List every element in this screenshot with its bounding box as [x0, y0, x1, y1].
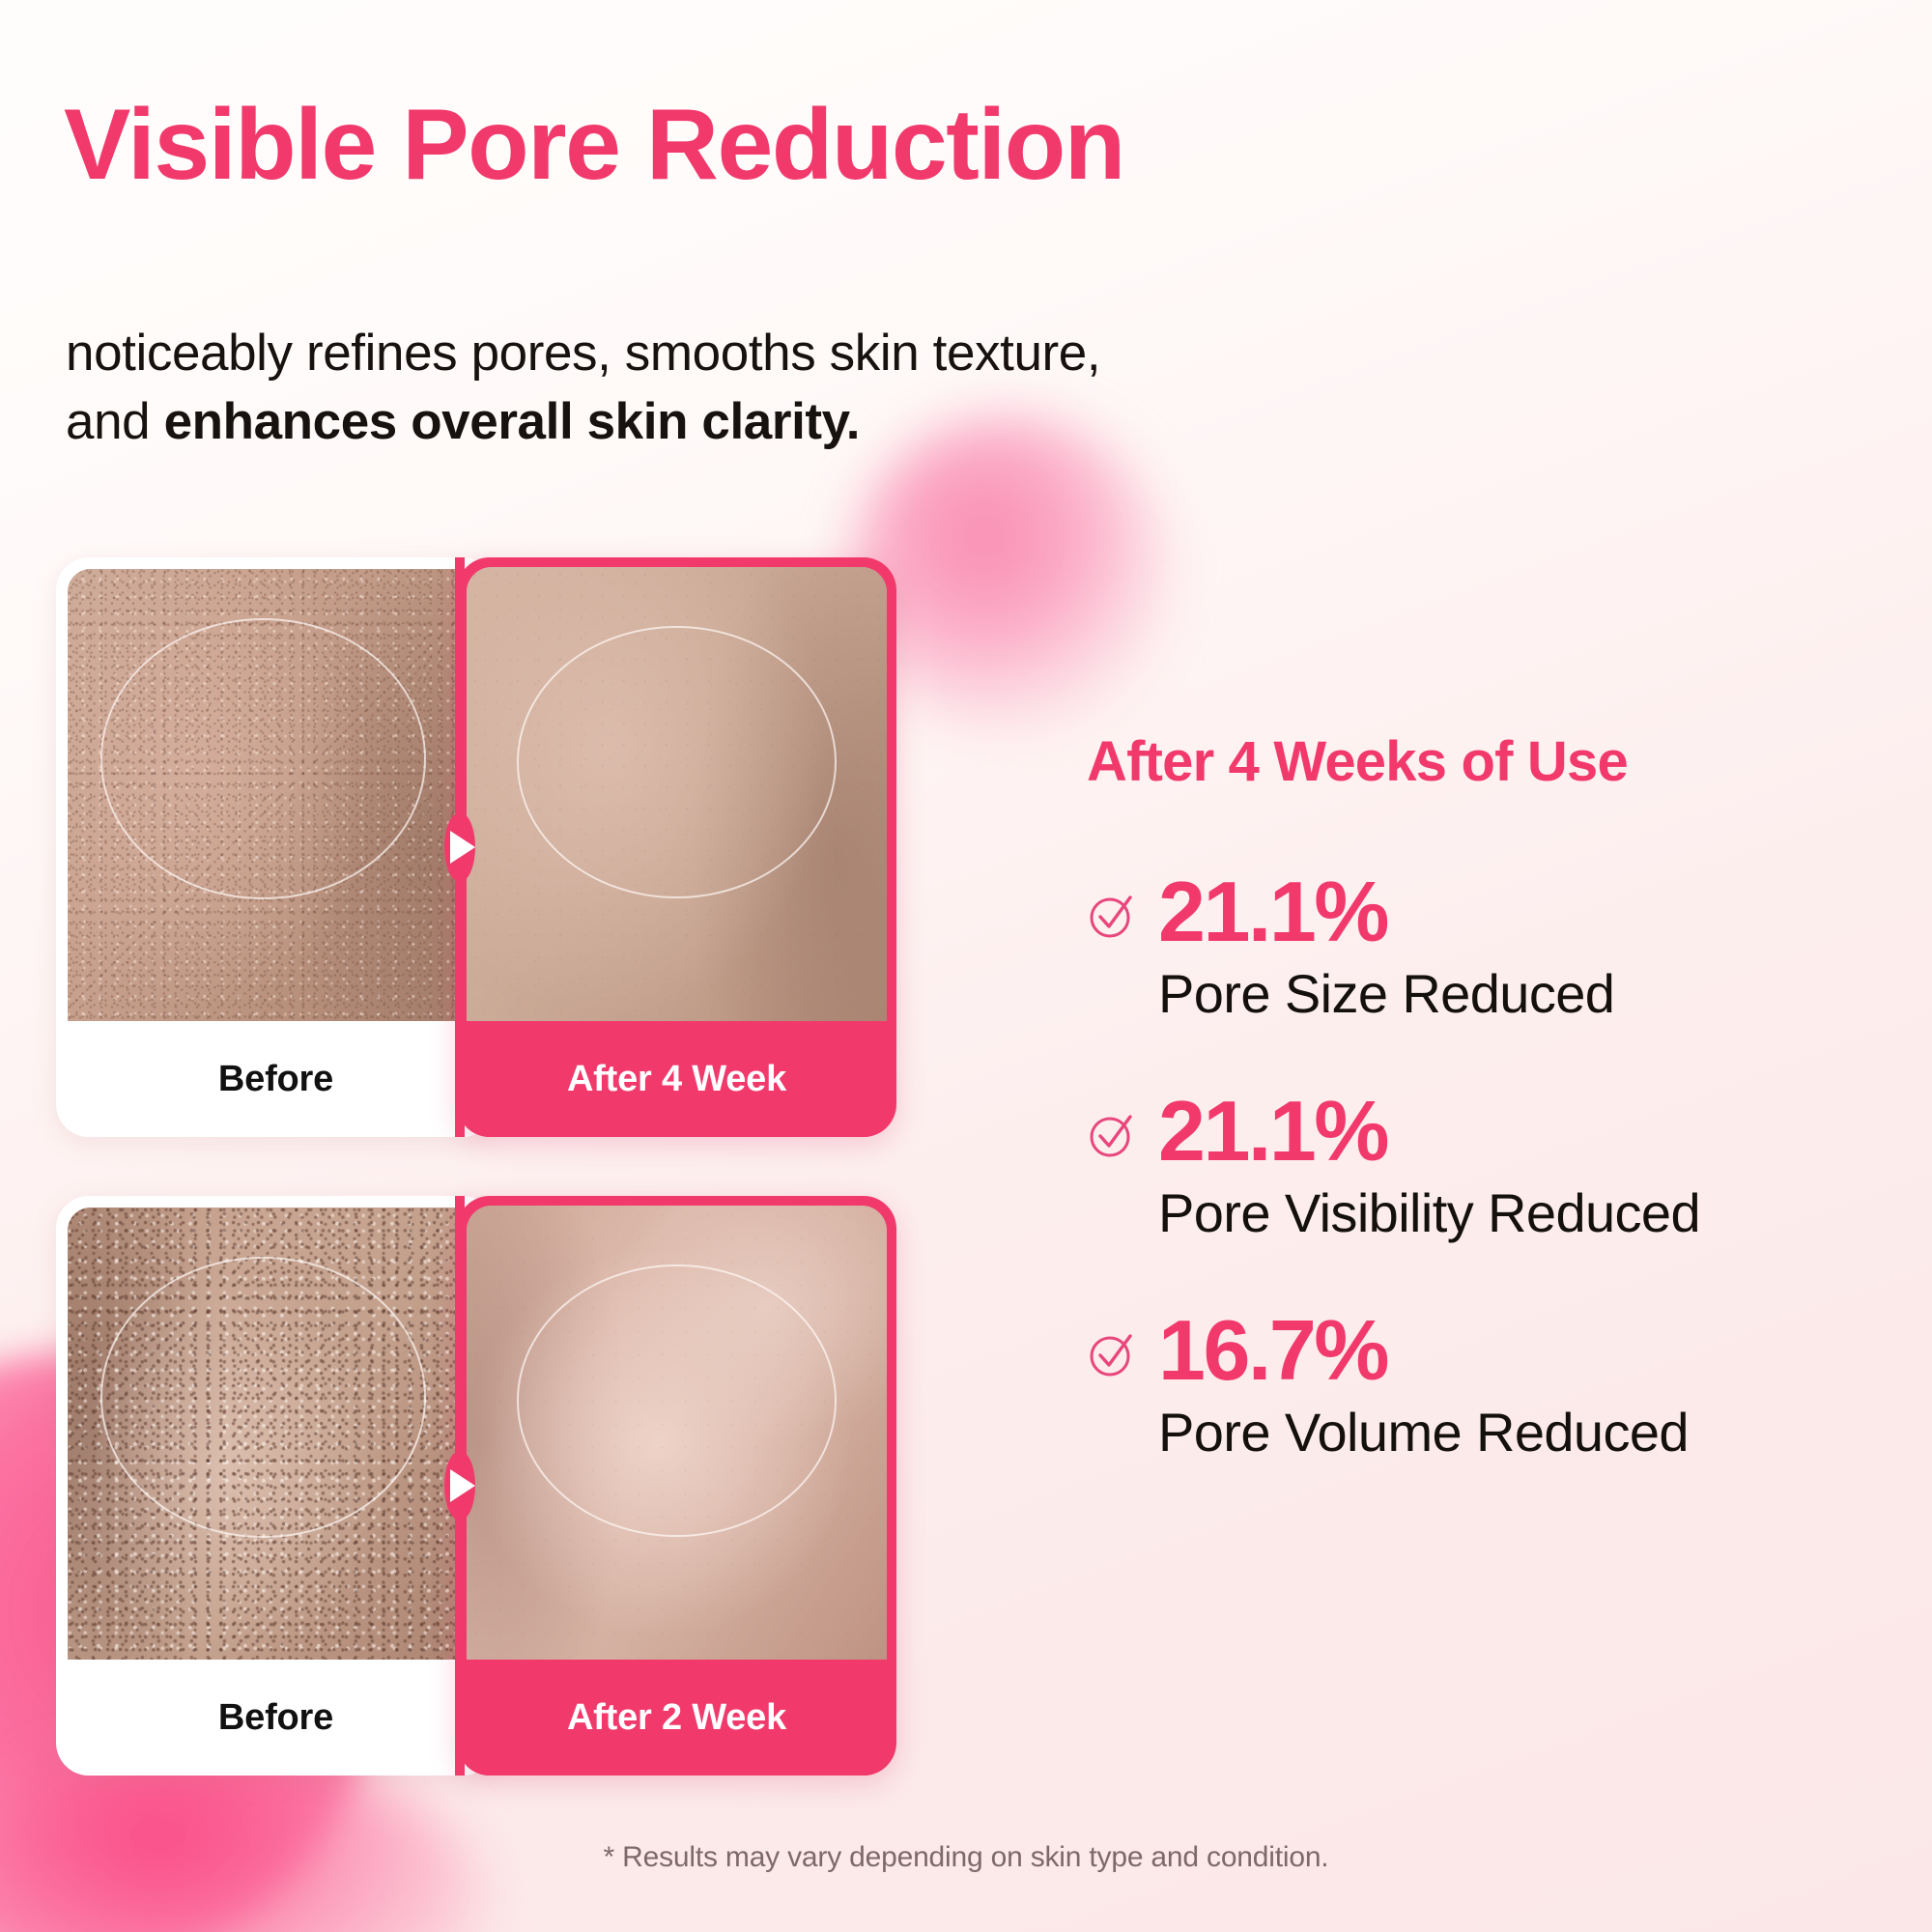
after-panel-2[interactable]: After 2 Week	[457, 1196, 896, 1776]
skin-texture-smooth	[467, 1206, 887, 1660]
result-label: Pore Size Reduced	[1158, 962, 1879, 1025]
circle-check-icon	[1087, 891, 1137, 941]
result-label: Pore Volume Reduced	[1158, 1401, 1879, 1463]
before-caption-1: Before	[68, 1021, 484, 1137]
circle-check-icon	[1087, 1329, 1137, 1379]
subtitle-line-1: noticeably refines pores, smooths skin t…	[66, 325, 1100, 382]
after-caption-2: After 2 Week	[467, 1660, 887, 1776]
skin-texture-smooth	[467, 567, 887, 1021]
pink-blob-decoration-bottom-secondary	[0, 1748, 483, 1932]
comparison-divider-2	[454, 1196, 466, 1776]
play-icon[interactable]	[444, 812, 475, 882]
play-icon[interactable]	[444, 1451, 475, 1520]
skin-texture-rough	[68, 1207, 484, 1660]
result-value: 21.1%	[1158, 1089, 1387, 1174]
before-panel-2[interactable]: Before	[56, 1196, 496, 1776]
results-heading: After 4 Weeks of Use	[1087, 729, 1879, 794]
result-value: 16.7%	[1158, 1308, 1387, 1393]
subtitle-line-2-emphasis: enhances overall skin clarity.	[164, 393, 861, 450]
result-value: 21.1%	[1158, 869, 1387, 954]
comparison-divider-1	[454, 557, 466, 1137]
before-skin-photo-1	[68, 569, 484, 1021]
result-item-pore-size: 21.1% Pore Size Reduced	[1087, 869, 1879, 1025]
before-panel-1[interactable]: Before	[56, 557, 496, 1137]
subtitle-line-2-prefix: and	[66, 393, 164, 450]
page-subtitle: noticeably refines pores, smooths skin t…	[66, 319, 1206, 456]
pink-blob-decoration-top	[850, 415, 1169, 734]
result-value-row: 21.1%	[1087, 869, 1879, 954]
before-caption-2: Before	[68, 1660, 484, 1776]
play-triangle	[450, 1469, 475, 1502]
after-caption-1: After 4 Week	[467, 1021, 887, 1137]
play-triangle	[450, 831, 475, 864]
before-after-comparison-2: Before After 2 Week	[56, 1196, 896, 1776]
result-value-row: 16.7%	[1087, 1308, 1879, 1393]
result-label: Pore Visibility Reduced	[1158, 1181, 1879, 1244]
before-skin-photo-2	[68, 1207, 484, 1660]
before-after-comparison-1: Before After 4 Week	[56, 557, 896, 1137]
promo-graphic: Visible Pore Reduction noticeably refine…	[0, 0, 1932, 1932]
page-title: Visible Pore Reduction	[64, 93, 1124, 198]
circle-check-icon	[1087, 1110, 1137, 1160]
after-skin-photo-2	[467, 1206, 887, 1660]
result-item-pore-visibility: 21.1% Pore Visibility Reduced	[1087, 1089, 1879, 1244]
after-skin-photo-1	[467, 567, 887, 1021]
disclaimer-footnote: * Results may vary depending on skin typ…	[0, 1841, 1932, 1874]
result-value-row: 21.1%	[1087, 1089, 1879, 1174]
results-panel: After 4 Weeks of Use 21.1% Pore Size Red…	[1087, 729, 1879, 1463]
after-panel-1[interactable]: After 4 Week	[457, 557, 896, 1137]
skin-texture-rough	[68, 569, 484, 1021]
result-item-pore-volume: 16.7% Pore Volume Reduced	[1087, 1308, 1879, 1463]
